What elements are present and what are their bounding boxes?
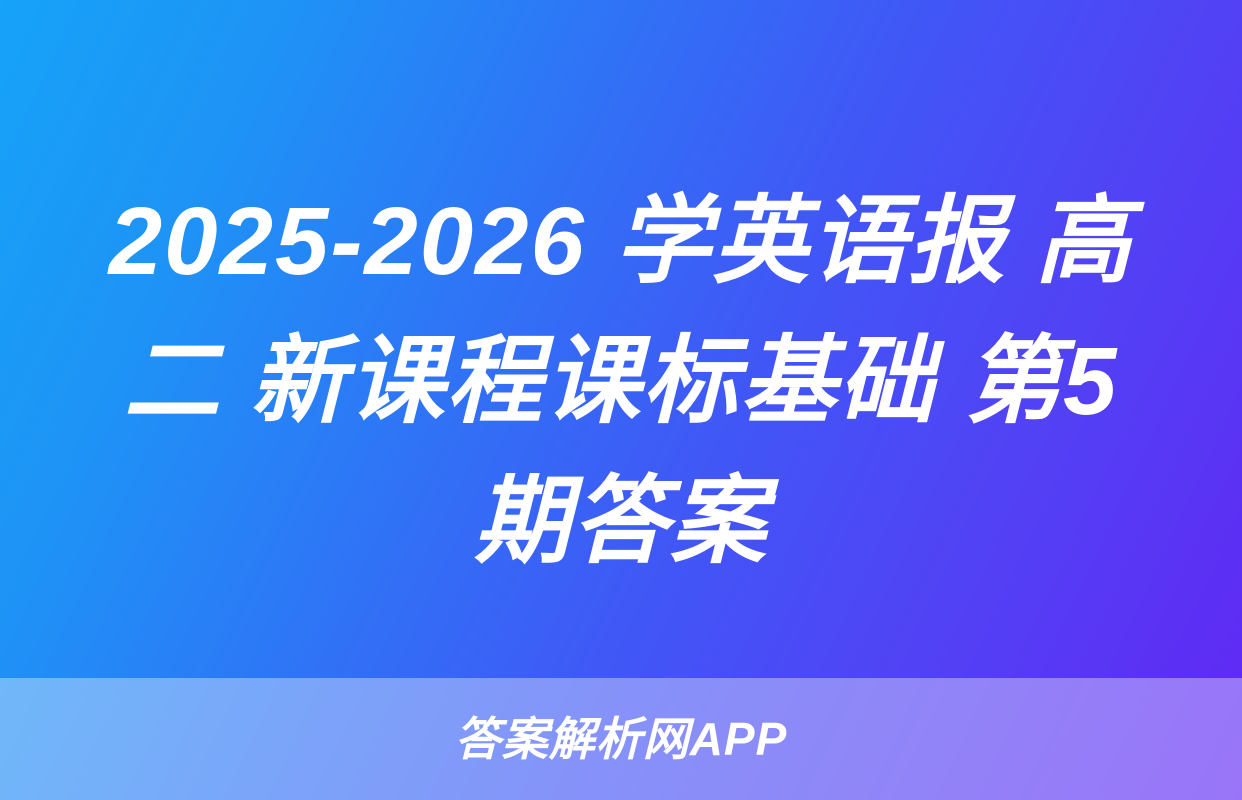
footer-brand-bar: 答案解析网APP (0, 678, 1242, 800)
banner-title: 2025-2026 学英语报 高 二 新课程课标基础 第5 期答案 (0, 172, 1242, 592)
promo-banner: 2025-2026 学英语报 高 二 新课程课标基础 第5 期答案 答案解析网A… (0, 0, 1242, 800)
app-brand-label: 答案解析网APP (455, 716, 788, 762)
title-line-1: 2025-2026 学英语报 高 (60, 172, 1182, 312)
title-line-2: 二 新课程课标基础 第5 (60, 312, 1182, 452)
title-line-3: 期答案 (60, 452, 1182, 592)
